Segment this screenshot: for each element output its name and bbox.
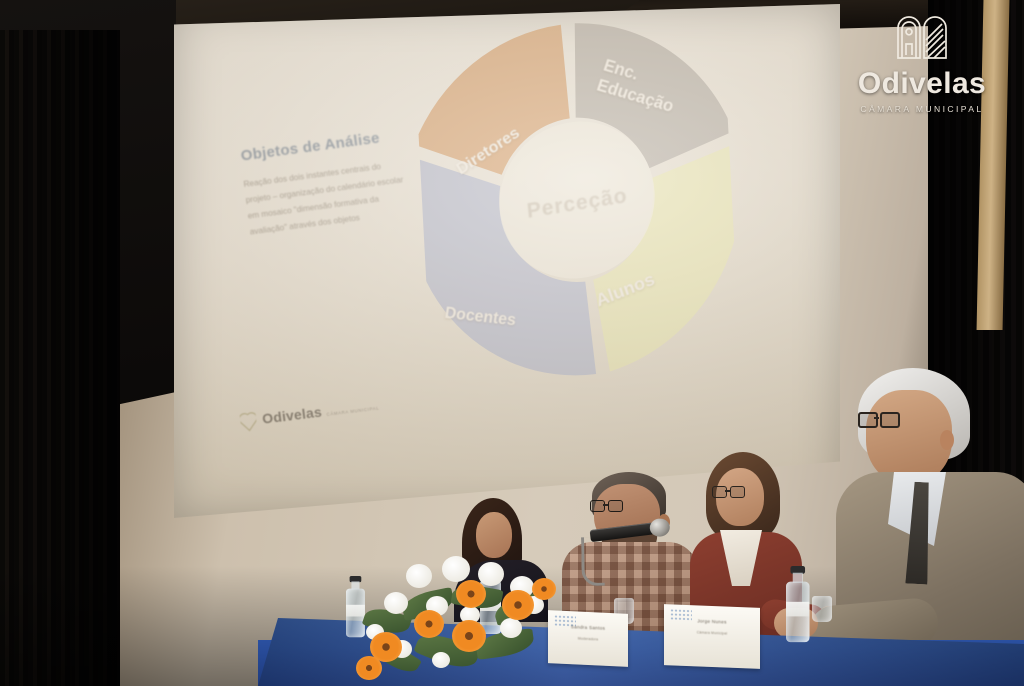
panelist-4 <box>836 368 1024 686</box>
white-rose <box>432 652 450 668</box>
placard-role: Câmara Municipal <box>672 629 752 636</box>
face <box>866 390 952 484</box>
orange-gerbera <box>502 590 534 620</box>
drinking-glass <box>812 596 832 622</box>
watermark-name: Odivelas <box>846 69 998 99</box>
presentation-slide: Objetos de Análise Reação dos dois insta… <box>174 4 840 518</box>
odivelas-heart-logo-icon <box>239 411 257 433</box>
orange-gerbera <box>414 610 444 638</box>
placard-name: Jorge Nunes <box>672 617 752 625</box>
orange-gerbera <box>532 578 556 600</box>
watermark-subtitle: CÂMARA MUNICIPAL <box>846 104 998 114</box>
slide-footer-logo: Odivelas CÂMARA MUNICIPAL <box>239 396 380 433</box>
white-rose <box>500 618 522 638</box>
orange-gerbera <box>356 656 382 680</box>
slide-body-text: Reação dos dois instantes centrais do pr… <box>243 151 446 240</box>
odivelas-heart-logo-icon <box>893 47 951 64</box>
donut-chart: Perceção Diretores Enc. Educação Alunos … <box>413 0 741 400</box>
name-placard: Jorge Nunes Câmara Municipal <box>664 604 760 669</box>
orange-gerbera <box>456 580 486 608</box>
slide-footer-logo-subtitle: CÂMARA MUNICIPAL <box>326 406 379 417</box>
flower-arrangement <box>356 548 566 686</box>
photo-scene: Objetos de Análise Reação dos dois insta… <box>0 0 1024 686</box>
projection-screen: Objetos de Análise Reação dos dois insta… <box>174 4 840 518</box>
watermark: Odivelas CÂMARA MUNICIPAL <box>846 8 998 114</box>
white-rose <box>478 562 504 586</box>
microphone-stand <box>581 537 605 586</box>
slide-footer-logo-name: Odivelas <box>261 404 322 427</box>
slide-footer-logo-text: Odivelas CÂMARA MUNICIPAL <box>261 397 380 429</box>
bottle-label <box>786 602 810 617</box>
white-rose <box>406 564 432 588</box>
orange-gerbera <box>452 620 486 652</box>
white-rose <box>442 556 470 582</box>
white-rose <box>384 592 408 614</box>
ear <box>940 430 954 450</box>
microphone-grill <box>649 517 671 537</box>
